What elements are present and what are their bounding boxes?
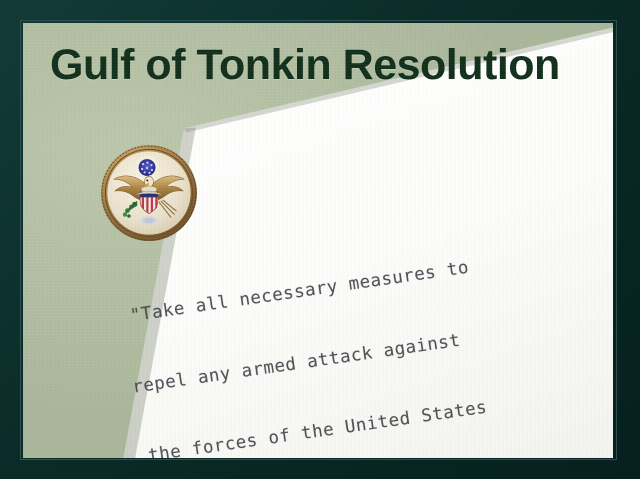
quote-line: "Take all necessary measures to bbox=[129, 234, 613, 329]
presentation-slide: Gulf of Tonkin Resolution bbox=[0, 0, 640, 479]
page-title: Gulf of Tonkin Resolution bbox=[50, 41, 560, 90]
glory-cloud bbox=[135, 155, 160, 180]
slide-canvas: Gulf of Tonkin Resolution bbox=[23, 23, 613, 458]
great-seal-icon bbox=[99, 144, 199, 242]
